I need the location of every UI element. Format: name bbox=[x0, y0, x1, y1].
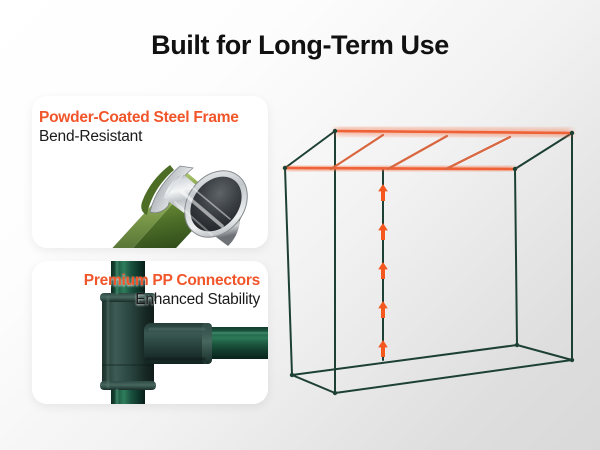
arrow-marker-3 bbox=[378, 262, 388, 279]
arrow-marker-1 bbox=[378, 184, 388, 201]
arrow-marker-5 bbox=[378, 340, 388, 357]
arrow-marker-4 bbox=[378, 301, 388, 318]
roof-diagonal-braces bbox=[331, 135, 510, 169]
card-subline-steel-frame: Bend-Resistant bbox=[39, 128, 239, 145]
promo-canvas: Built for Long-Term Use bbox=[0, 0, 600, 450]
pp-connectors-text-block: Premium PP Connectors Enhanced Stability bbox=[84, 272, 260, 309]
feature-card-steel-frame: Powder-Coated Steel Frame Bend-Resistant bbox=[32, 96, 268, 248]
page-title: Built for Long-Term Use bbox=[0, 30, 600, 61]
card-headline-pp-connectors: Premium PP Connectors bbox=[84, 272, 260, 289]
greenhouse-frame-diagram bbox=[270, 95, 600, 420]
card-headline-steel-frame: Powder-Coated Steel Frame bbox=[39, 109, 239, 126]
arrow-marker-2 bbox=[378, 223, 388, 240]
steel-frame-text-block: Powder-Coated Steel Frame Bend-Resistant bbox=[39, 109, 239, 146]
card-subline-pp-connectors: Enhanced Stability bbox=[84, 291, 260, 308]
feature-card-pp-connectors: Premium PP Connectors Enhanced Stability bbox=[32, 261, 268, 404]
